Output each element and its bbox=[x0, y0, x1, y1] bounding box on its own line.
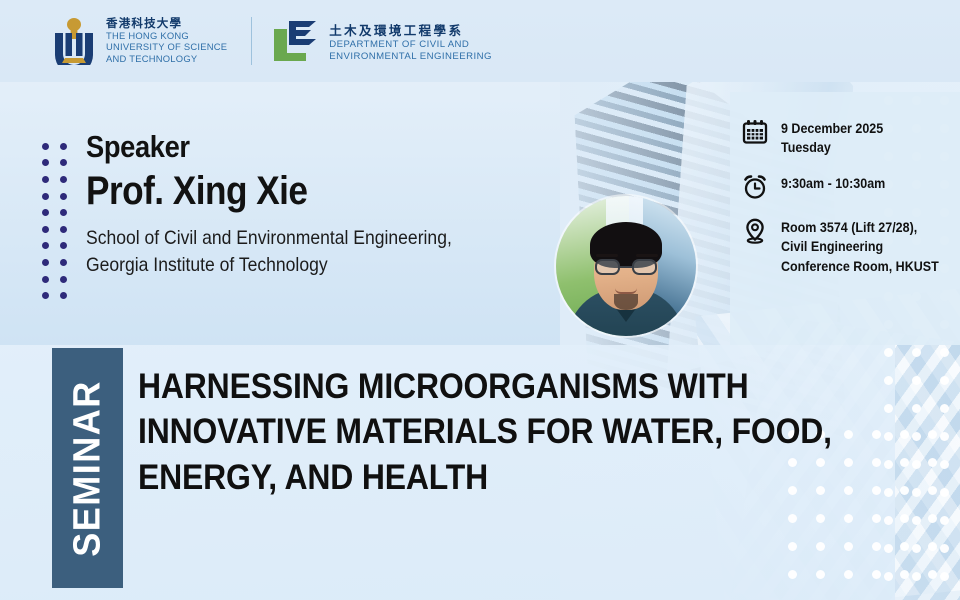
speaker-portrait bbox=[556, 196, 696, 336]
speaker-affiliation-line1: School of Civil and Environmental Engine… bbox=[86, 225, 509, 252]
logo-divider bbox=[251, 17, 252, 65]
alarm-clock-icon bbox=[742, 174, 768, 200]
speaker-affiliation-line2: Georgia Institute of Technology bbox=[86, 252, 509, 279]
cee-name-en-2: ENVIRONMENTAL ENGINEERING bbox=[329, 51, 492, 63]
seminar-title-line3: ENERGY, AND HEALTH bbox=[138, 455, 768, 500]
event-venue-row: Room 3574 (Lift 27/28), Civil Engineerin… bbox=[742, 218, 952, 276]
calendar-icon bbox=[742, 119, 768, 145]
event-details-panel: 9 December 2025 Tuesday 9:30am - 10:30am bbox=[730, 92, 960, 345]
event-venue-line1: Room 3574 (Lift 27/28), bbox=[781, 218, 939, 237]
speaker-dot-decoration bbox=[42, 138, 78, 304]
hkust-name-zh: 香港科技大學 bbox=[106, 18, 227, 30]
seminar-tab-label: SEMINAR bbox=[66, 380, 109, 556]
seminar-title-line1: HARNESSING MICROORGANISMS WITH bbox=[138, 364, 768, 409]
event-time: 9:30am - 10:30am bbox=[781, 174, 885, 193]
speaker-name: Prof. Xing Xie bbox=[86, 168, 500, 215]
portrait-eyebrow-left bbox=[596, 254, 618, 257]
event-date: 9 December 2025 bbox=[781, 119, 883, 138]
cee-logo: 土木及環境工程學系 DEPARTMENT OF CIVIL AND ENVIRO… bbox=[272, 20, 492, 63]
hkust-name-en-1: THE HONG KONG bbox=[106, 30, 227, 41]
hkust-name-en-3: AND TECHNOLOGY bbox=[106, 53, 227, 64]
portrait-eyebrow-right bbox=[636, 254, 658, 257]
hkust-logo-text: 香港科技大學 THE HONG KONG UNIVERSITY OF SCIEN… bbox=[106, 18, 227, 64]
portrait-glasses-icon bbox=[595, 259, 657, 276]
cee-name-en-1: DEPARTMENT OF CIVIL AND bbox=[329, 39, 492, 51]
cee-name-zh: 土木及環境工程學系 bbox=[329, 20, 492, 39]
hkust-name-en-2: UNIVERSITY OF SCIENCE bbox=[106, 41, 227, 52]
event-date-row: 9 December 2025 Tuesday bbox=[742, 119, 892, 158]
location-pin-icon bbox=[742, 218, 768, 244]
event-venue-line2: Civil Engineering bbox=[781, 237, 939, 256]
poster-header: 香港科技大學 THE HONG KONG UNIVERSITY OF SCIEN… bbox=[0, 0, 960, 82]
seminar-title-line2: INNOVATIVE MATERIALS FOR WATER, FOOD, bbox=[138, 409, 768, 454]
speaker-block: Speaker Prof. Xing Xie School of Civil a… bbox=[86, 130, 556, 278]
event-venue-line3: Conference Room, HKUST bbox=[781, 257, 939, 276]
speaker-label: Speaker bbox=[86, 130, 500, 164]
cee-logo-icon bbox=[272, 21, 318, 61]
portrait-goatee bbox=[614, 294, 638, 310]
seminar-poster: 香港科技大學 THE HONG KONG UNIVERSITY OF SCIEN… bbox=[0, 0, 960, 600]
seminar-tab: SEMINAR bbox=[52, 348, 123, 588]
event-time-row: 9:30am - 10:30am bbox=[742, 174, 894, 200]
cee-logo-text: 土木及環境工程學系 DEPARTMENT OF CIVIL AND ENVIRO… bbox=[329, 20, 492, 63]
hkust-logo: 香港科技大學 THE HONG KONG UNIVERSITY OF SCIEN… bbox=[52, 17, 227, 65]
hkust-shield-icon bbox=[52, 17, 96, 65]
event-weekday: Tuesday bbox=[781, 138, 883, 157]
seminar-title: HARNESSING MICROORGANISMS WITH INNOVATIV… bbox=[138, 364, 768, 500]
